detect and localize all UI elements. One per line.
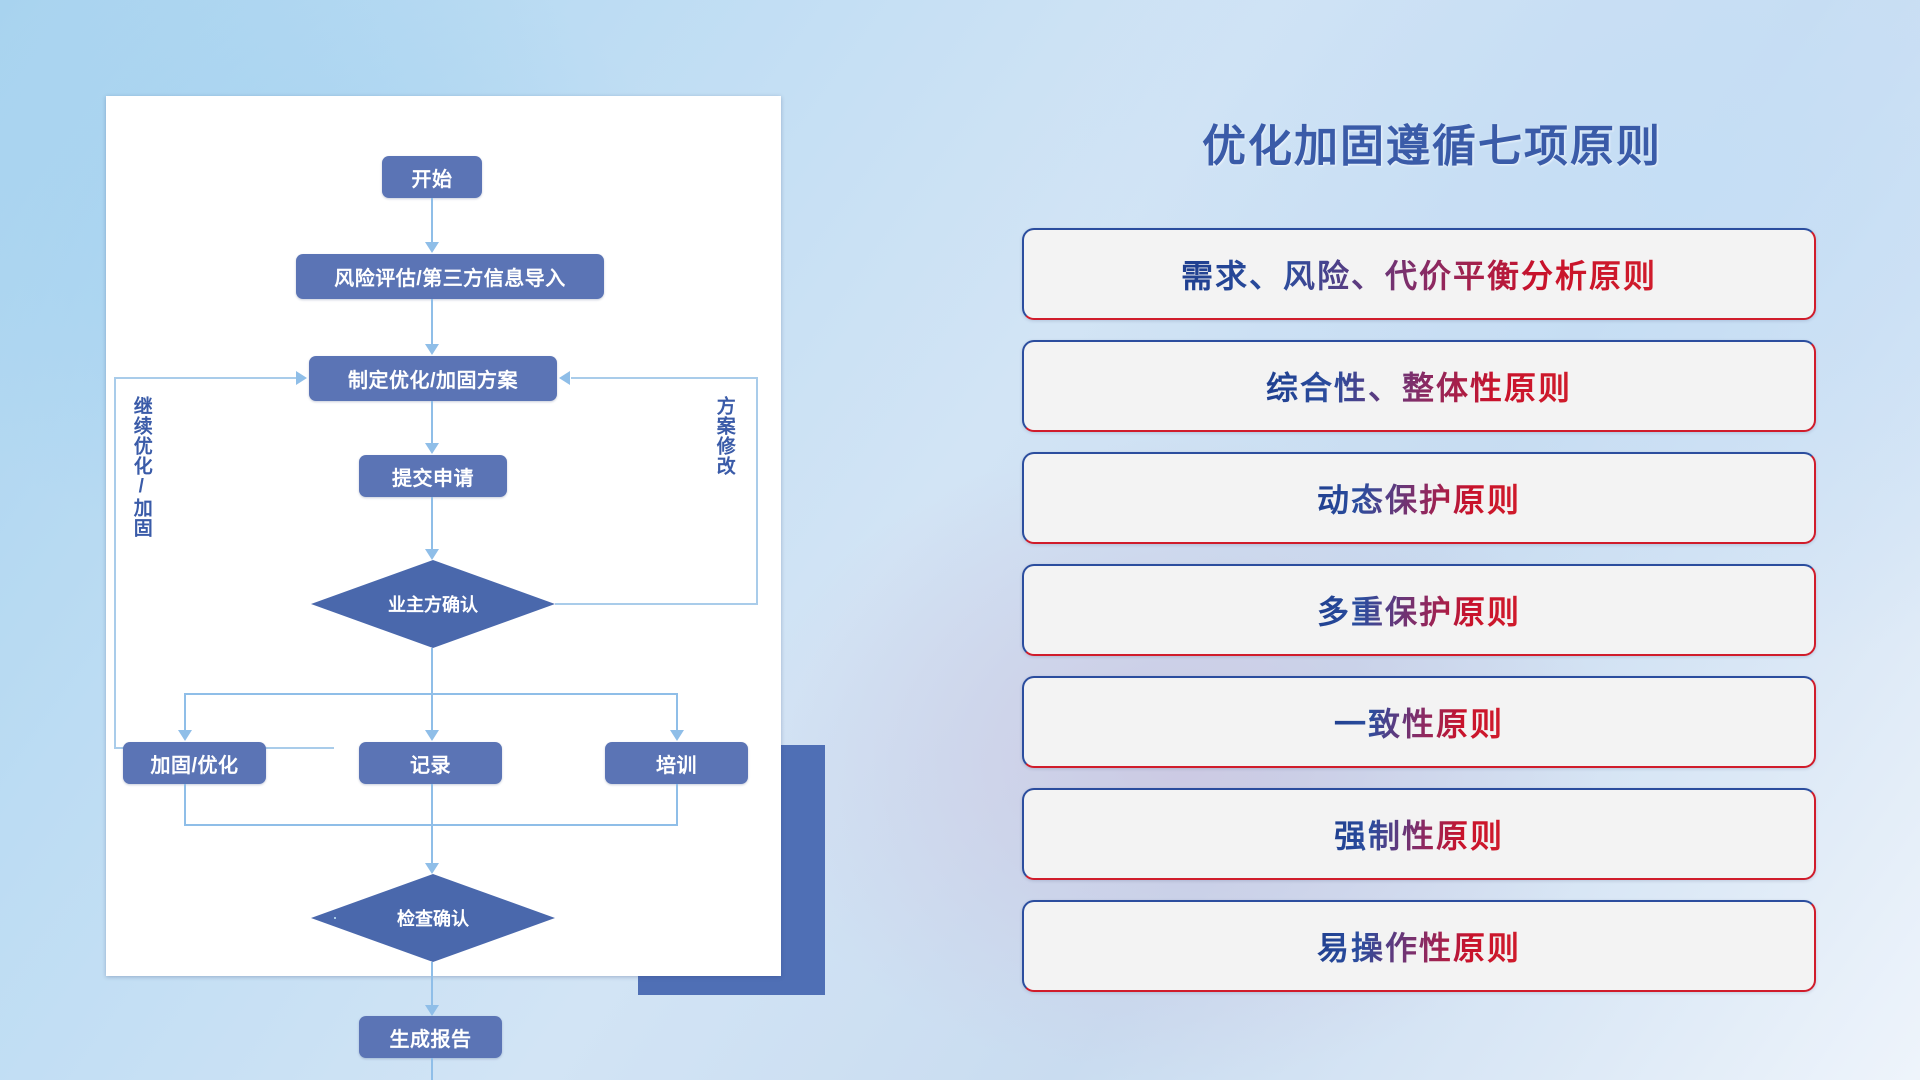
flow-node-generate-report-label: 生成报告	[390, 1023, 472, 1052]
flow-node-generate-report[interactable]: 生成报告	[359, 1016, 502, 1058]
left-loop-top-segment	[114, 377, 296, 379]
flow-node-owner-confirm[interactable]: 业主方确认	[311, 560, 555, 648]
arrowhead-plan-to-submit	[425, 443, 439, 454]
fanin-branch-left	[184, 784, 186, 825]
arrowhead-start-to-risk	[425, 242, 439, 253]
principle-card-6-label: 强制性原则	[1334, 811, 1504, 857]
arrowhead-to-train	[670, 730, 684, 741]
principle-card-5-label: 一致性原则	[1334, 699, 1504, 745]
flow-node-check-confirm-label: 检查确认	[397, 905, 469, 931]
principles-section: 优化加固遵循七项原则 需求、风险、代价平衡分析原则 综合性、整体性原则 动态保护…	[1022, 110, 1842, 1010]
connector-start-to-risk	[431, 198, 433, 245]
principle-card-6[interactable]: 强制性原则	[1022, 788, 1816, 880]
connector-plan-to-submit	[431, 401, 433, 446]
principle-card-4-label: 多重保护原则	[1317, 587, 1521, 633]
principle-card-7-label: 易操作性原则	[1317, 923, 1521, 969]
flow-node-record-label: 记录	[410, 749, 451, 778]
principle-card-1[interactable]: 需求、风险、代价平衡分析原则	[1022, 228, 1816, 320]
fanout-branch-center	[431, 693, 433, 733]
principle-card-2-label: 综合性、整体性原则	[1266, 363, 1572, 409]
slide-canvas: 开始 风险评估/第三方信息导入 制定优化/加固方案 提交申请 业主方确认	[0, 0, 1920, 1080]
principle-card-4[interactable]: 多重保护原则	[1022, 564, 1816, 656]
connector-fanin-to-check	[431, 824, 433, 866]
right-loop-vertical-rail	[756, 377, 758, 605]
connector-submit-to-owner	[431, 497, 433, 552]
arrowhead-to-reinforce	[178, 730, 192, 741]
left-loop-vertical-rail	[114, 377, 116, 749]
flow-node-check-confirm[interactable]: 检查确认	[311, 874, 555, 962]
arrowhead-right-loop-into-plan	[559, 371, 570, 385]
arrowhead-left-loop-into-plan	[296, 371, 307, 385]
connector-risk-to-plan	[431, 299, 433, 347]
check-to-left-rail	[334, 917, 336, 919]
arrowhead-check-to-report	[425, 1005, 439, 1016]
fanout-branch-left	[184, 693, 186, 733]
principle-card-1-label: 需求、风险、代价平衡分析原则	[1181, 251, 1657, 297]
arrowhead-submit-to-owner	[425, 549, 439, 560]
flow-node-reinforce-optimize-label: 加固/优化	[150, 749, 238, 778]
principle-card-2[interactable]: 综合性、整体性原则	[1022, 340, 1816, 432]
flow-node-submit-application[interactable]: 提交申请	[359, 455, 507, 497]
principle-card-7[interactable]: 易操作性原则	[1022, 900, 1816, 992]
principle-card-5[interactable]: 一致性原则	[1022, 676, 1816, 768]
connector-check-to-report	[431, 962, 433, 1008]
flow-node-record[interactable]: 记录	[359, 742, 502, 784]
fanin-branch-center	[431, 784, 433, 825]
arrowhead-fanin-to-check	[425, 863, 439, 874]
flowchart-panel: 开始 风险评估/第三方信息导入 制定优化/加固方案 提交申请 业主方确认	[106, 96, 781, 976]
fanout-branch-right	[676, 693, 678, 733]
flow-node-start-label: 开始	[412, 163, 453, 192]
flow-node-start[interactable]: 开始	[382, 156, 482, 198]
flow-node-submit-application-label: 提交申请	[392, 462, 474, 491]
left-loop-label: 继续优化/加固	[131, 396, 151, 556]
flow-node-reinforce-optimize[interactable]: 加固/优化	[123, 742, 266, 784]
flow-node-training-label: 培训	[656, 749, 697, 778]
flow-node-risk-assessment[interactable]: 风险评估/第三方信息导入	[296, 254, 604, 299]
fanin-branch-right	[676, 784, 678, 825]
principle-card-3[interactable]: 动态保护原则	[1022, 452, 1816, 544]
flow-node-owner-confirm-label: 业主方确认	[388, 591, 478, 617]
principle-card-3-label: 动态保护原则	[1317, 475, 1521, 521]
flow-node-make-plan-label: 制定优化/加固方案	[348, 364, 518, 393]
flow-node-risk-assessment-label: 风险评估/第三方信息导入	[334, 262, 566, 291]
right-loop-from-owner	[555, 603, 758, 605]
principles-title: 优化加固遵循七项原则	[1022, 110, 1842, 174]
connector-report-to-end	[431, 1058, 433, 1080]
right-loop-top-segment	[571, 377, 757, 379]
connector-owner-down	[431, 648, 433, 694]
right-loop-label: 方案修改	[714, 396, 734, 512]
flow-node-training[interactable]: 培训	[605, 742, 748, 784]
arrowhead-to-record	[425, 730, 439, 741]
arrowhead-risk-to-plan	[425, 344, 439, 355]
flow-node-make-plan[interactable]: 制定优化/加固方案	[309, 356, 557, 401]
